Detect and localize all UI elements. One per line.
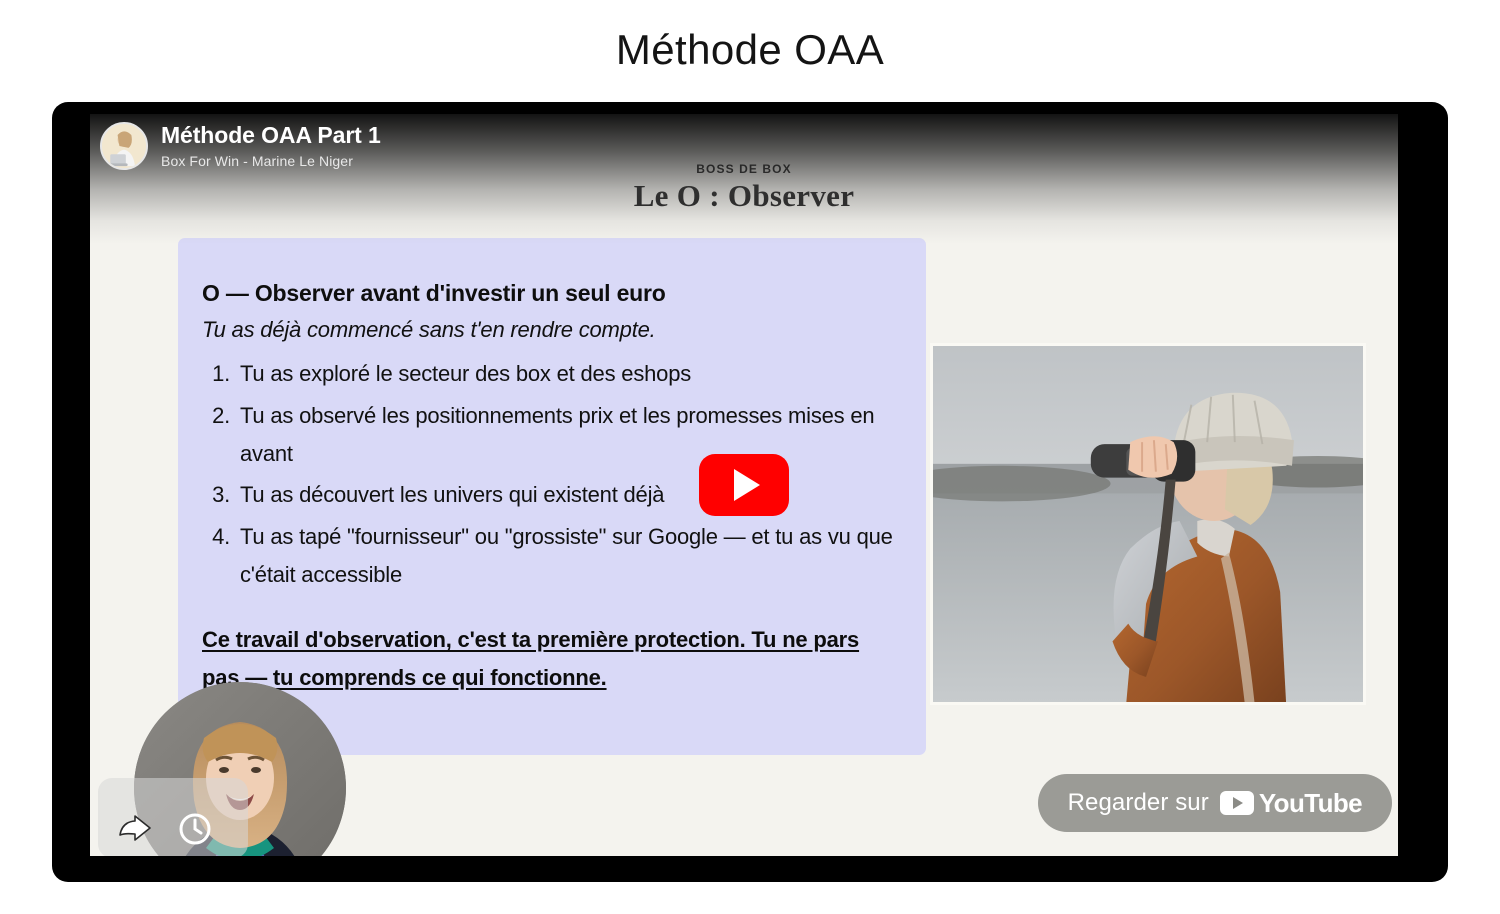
youtube-header-text: Méthode OAA Part 1 Box For Win - Marine …: [161, 123, 381, 169]
video-player-frame: BOSS DE BOX Le O : Observer O — Observer…: [52, 102, 1448, 882]
share-icon[interactable]: [118, 814, 152, 844]
binoculars-photo-illustration: [933, 346, 1363, 702]
card-list: Tu as exploré le secteur des box et des …: [236, 355, 900, 594]
video-title: Méthode OAA Part 1: [161, 123, 381, 149]
card-subtitle: Tu as déjà commencé sans t'en rendre com…: [202, 317, 900, 343]
slide-heading: Le O : Observer: [90, 178, 1398, 214]
youtube-logo-icon: YouTube: [1220, 788, 1362, 819]
channel-avatar[interactable]: [100, 122, 148, 170]
list-item: Tu as découvert les univers qui existent…: [236, 476, 900, 514]
channel-avatar-image: [102, 124, 146, 168]
slide-photo: [930, 343, 1366, 705]
list-item: Tu as exploré le secteur des box et des …: [236, 355, 900, 393]
youtube-video-header[interactable]: Méthode OAA Part 1 Box For Win - Marine …: [100, 122, 381, 170]
page-title: Méthode OAA: [0, 0, 1500, 100]
list-item: Tu as observé les positionnements prix e…: [236, 397, 900, 473]
channel-name[interactable]: Box For Win - Marine Le Niger: [161, 153, 381, 169]
watch-later-icon[interactable]: [178, 812, 212, 846]
play-icon: [734, 469, 760, 501]
youtube-play-mark-icon: [1220, 791, 1254, 815]
play-button[interactable]: [699, 454, 789, 516]
card-conclusion: Ce travail d'observation, c'est ta premi…: [202, 621, 902, 697]
watch-on-youtube-label: Regarder sur: [1068, 789, 1209, 817]
card-title: O — Observer avant d'investir un seul eu…: [202, 280, 900, 307]
watch-on-youtube-button[interactable]: Regarder sur YouTube: [1038, 774, 1392, 832]
youtube-wordmark: YouTube: [1259, 788, 1362, 819]
video-stage[interactable]: BOSS DE BOX Le O : Observer O — Observer…: [90, 114, 1398, 856]
slide-content-card: O — Observer avant d'investir un seul eu…: [178, 238, 926, 755]
list-item: Tu as tapé "fournisseur" ou "grossiste" …: [236, 518, 900, 594]
youtube-bottom-actions: [118, 812, 212, 846]
